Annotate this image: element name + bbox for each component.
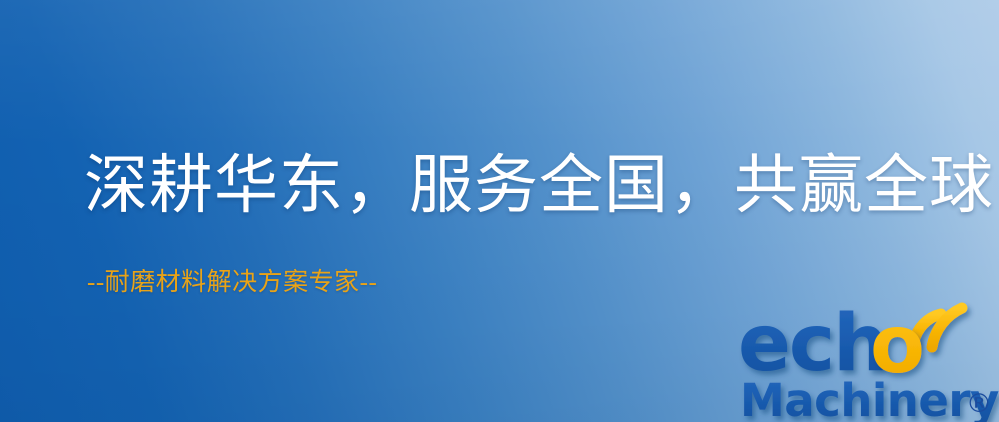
svg-text:Machinery: Machinery xyxy=(740,374,999,422)
logo-tagline-machinery: Machinery xyxy=(740,374,999,422)
svg-text:®: ® xyxy=(966,389,992,419)
echo-machinery-logo[interactable]: ech o Machinery ® xyxy=(736,294,999,422)
registered-trademark-icon: ® xyxy=(966,389,992,419)
hero-banner: 深耕华东，服务全国，共赢全球 --耐磨材料解决方案专家-- xyxy=(0,0,999,422)
page-subtitle: --耐磨材料解决方案专家-- xyxy=(87,268,377,298)
page-title: 深耕华东，服务全国，共赢全球 xyxy=(84,152,994,219)
